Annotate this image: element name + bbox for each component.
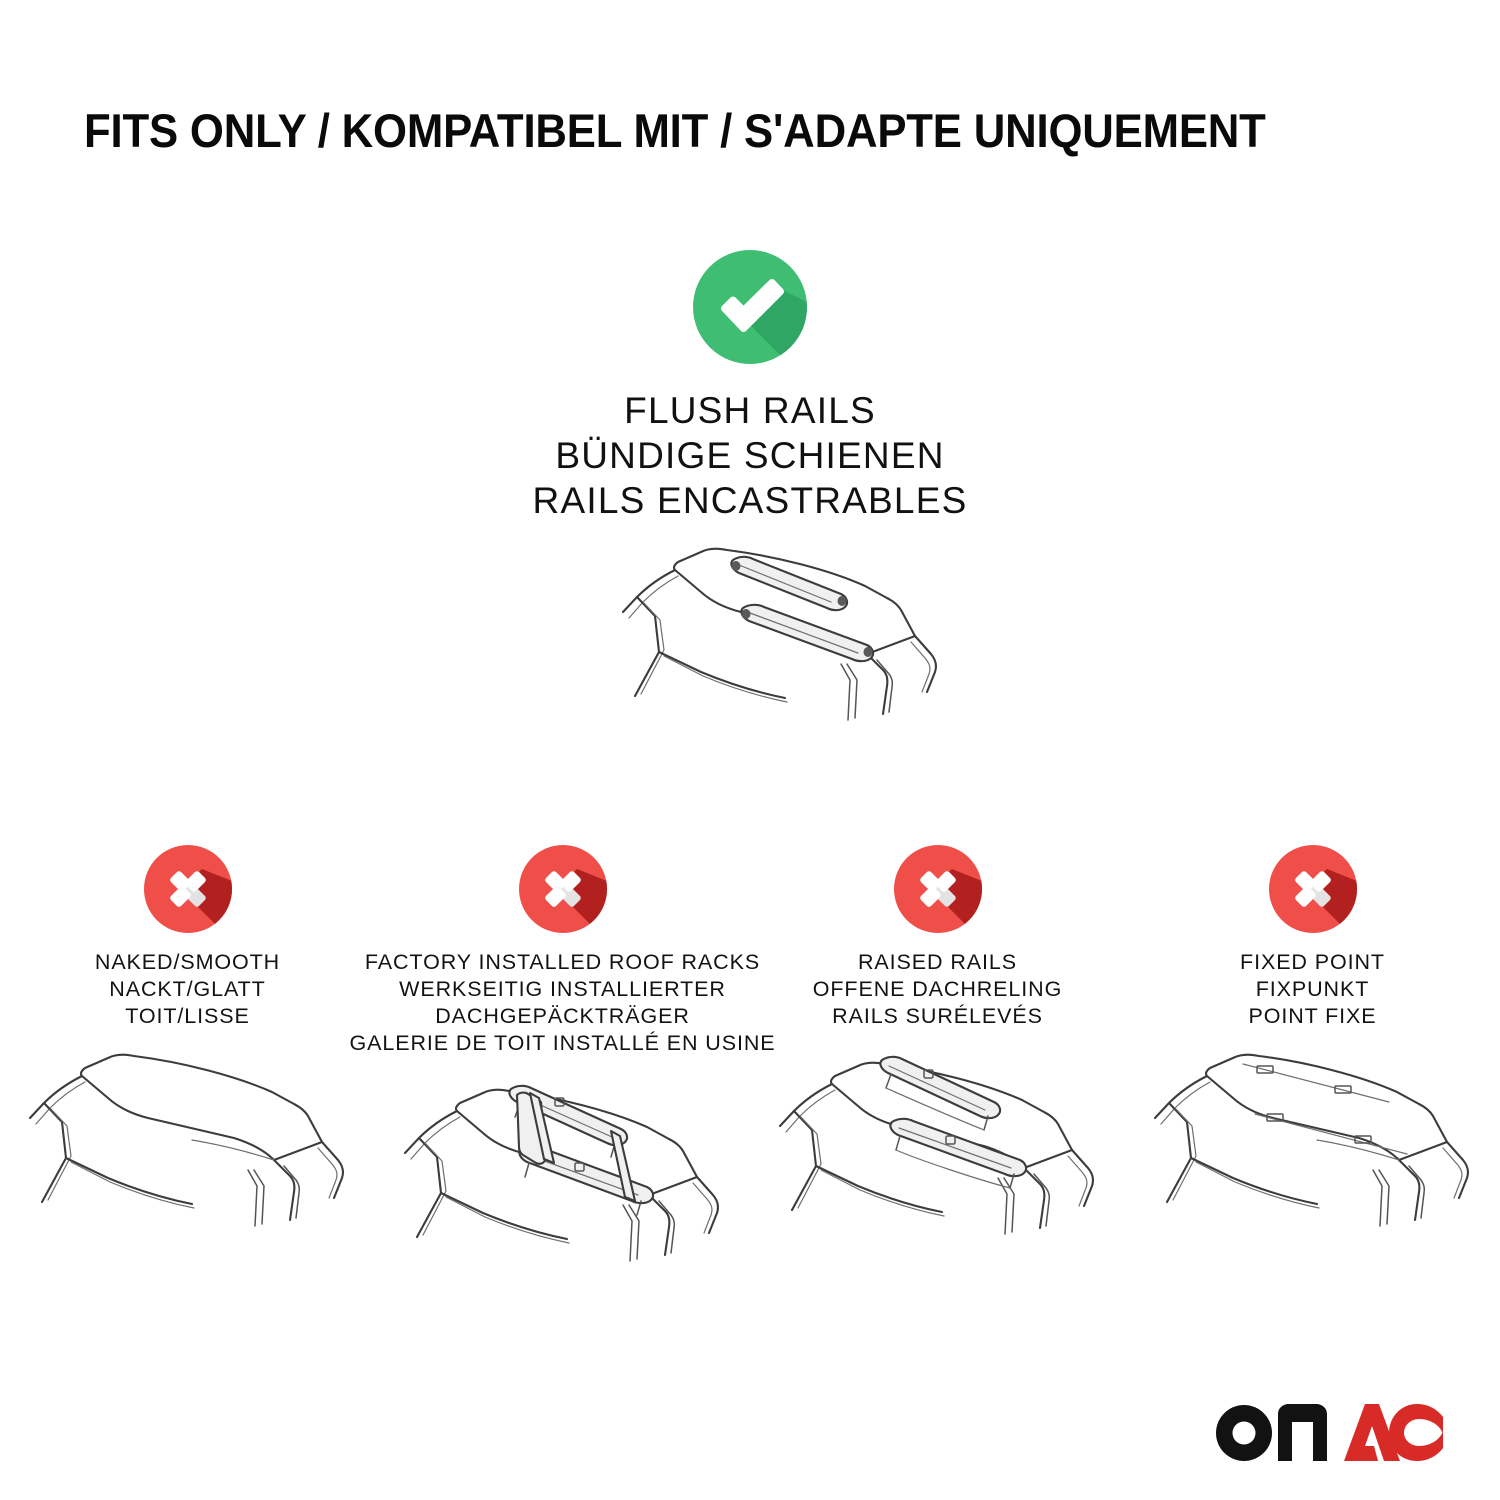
label-line-de-1: WERKSEITIG INSTALLIERTER (350, 976, 776, 1003)
rejected-label-fixed-point: FIXED POINT FIXPUNKT POINT FIXE (1240, 949, 1385, 1030)
approved-label-line-fr: RAILS ENCASTRABLES (0, 478, 1500, 523)
x-circle-icon (519, 845, 607, 933)
label-line-de: FIXPUNKT (1240, 976, 1385, 1003)
label-line-de-2: DACHGEPÄCKTRÄGER (350, 1003, 776, 1030)
label-line-fr: RAILS SURÉLEVÉS (813, 1003, 1062, 1030)
rejected-item-raised-rails: RAISED RAILS OFFENE DACHRELING RAILS SUR… (750, 845, 1125, 1286)
label-line-fr: TOIT/LISSE (95, 1003, 280, 1030)
x-circle-glyph (1269, 845, 1357, 933)
approved-section: FLUSH RAILS BÜNDIGE SCHIENEN RAILS ENCAS… (0, 250, 1500, 839)
page-title: FITS ONLY / KOMPATIBEL MIT / S'ADAPTE UN… (84, 103, 1330, 159)
car-roof-factory-roof-racks-illustration (375, 1071, 750, 1286)
rejected-label-factory-roof-racks: FACTORY INSTALLED ROOF RACKS WERKSEITIG … (350, 949, 776, 1057)
rejected-section: NAKED/SMOOTH NACKT/GLATT TOIT/LISSE (0, 845, 1500, 1286)
label-line-en: FACTORY INSTALLED ROOF RACKS (350, 949, 776, 976)
label-line-fr: GALERIE DE TOIT INSTALLÉ EN USINE (350, 1030, 776, 1057)
rejected-label-raised-rails: RAISED RAILS OFFENE DACHRELING RAILS SUR… (813, 949, 1062, 1030)
omac-logo-glyph (1213, 1398, 1443, 1462)
x-circle-icon (144, 845, 232, 933)
approved-label-line-en: FLUSH RAILS (0, 388, 1500, 433)
label-line-de: NACKT/GLATT (95, 976, 280, 1003)
x-circle-glyph (519, 845, 607, 933)
label-line-en: NAKED/SMOOTH (95, 949, 280, 976)
rejected-item-fixed-point: FIXED POINT FIXPUNKT POINT FIXE (1125, 845, 1500, 1286)
omac-logo (1213, 1398, 1443, 1462)
x-circle-glyph (144, 845, 232, 933)
x-circle-glyph (894, 845, 982, 933)
car-roof-flush-rails-illustration (0, 539, 1500, 839)
x-circle-icon (894, 845, 982, 933)
rejected-label-naked-smooth: NAKED/SMOOTH NACKT/GLATT TOIT/LISSE (95, 949, 280, 1030)
label-line-en: FIXED POINT (1240, 949, 1385, 976)
label-line-de: OFFENE DACHRELING (813, 976, 1062, 1003)
x-circle-icon (1269, 845, 1357, 933)
check-circle-icon (693, 250, 807, 364)
label-line-en: RAISED RAILS (813, 949, 1062, 976)
car-roof-raised-rails-illustration (750, 1044, 1125, 1259)
car-roof-naked-smooth-illustration (0, 1044, 375, 1259)
rejected-item-factory-roof-racks: FACTORY INSTALLED ROOF RACKS WERKSEITIG … (375, 845, 750, 1286)
car-roof-fixed-point-illustration (1125, 1044, 1500, 1259)
approved-label-line-de: BÜNDIGE SCHIENEN (0, 433, 1500, 478)
label-line-fr: POINT FIXE (1240, 1003, 1385, 1030)
rejected-item-naked-smooth: NAKED/SMOOTH NACKT/GLATT TOIT/LISSE (0, 845, 375, 1286)
approved-label: FLUSH RAILS BÜNDIGE SCHIENEN RAILS ENCAS… (0, 388, 1500, 523)
check-circle-glyph (693, 250, 807, 364)
